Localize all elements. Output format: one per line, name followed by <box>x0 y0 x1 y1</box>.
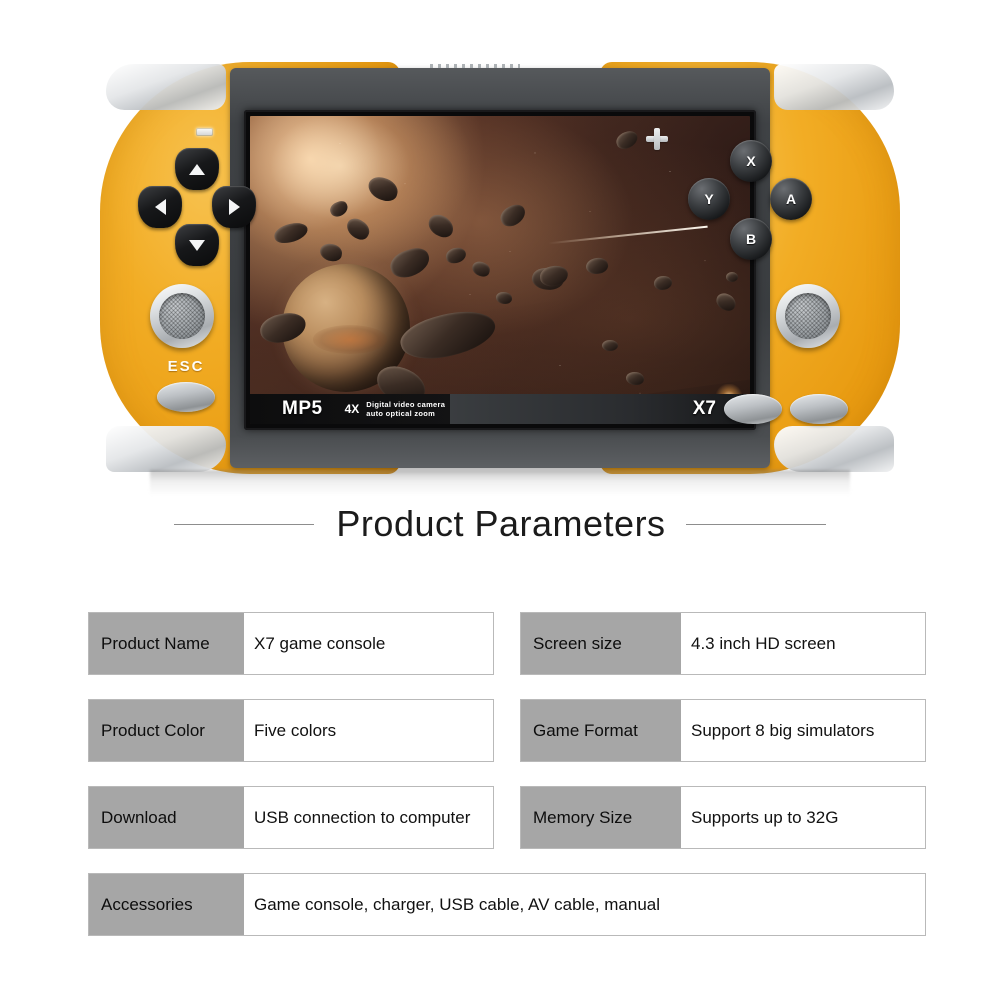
spec-value: 4.3 inch HD screen <box>681 613 925 674</box>
spec-row-memory-size: Memory Size Supports up to 32G <box>520 786 926 849</box>
esc-button[interactable] <box>157 382 215 412</box>
spec-row-screen-size: Screen size 4.3 inch HD screen <box>520 612 926 675</box>
section-header: Product Parameters <box>0 494 1000 554</box>
spec-value: Support 8 big simulators <box>681 700 925 761</box>
dpad-down-button[interactable] <box>175 224 219 266</box>
spec-value: Game console, charger, USB cable, AV cab… <box>244 874 925 935</box>
chrome-trim-top-left <box>106 64 226 110</box>
camera-feature-line-1: Digital video camera <box>366 400 445 409</box>
chrome-trim-top-right <box>774 64 894 110</box>
product-detail-page: MP5 4X Digital video camera auto optical… <box>0 0 1000 1000</box>
spec-row-download: Download USB connection to computer <box>88 786 494 849</box>
plus-icon <box>646 128 668 150</box>
screen-footer-bar: MP5 4X Digital video camera auto optical… <box>250 394 750 424</box>
button-x[interactable]: X <box>730 140 772 182</box>
face-button-cluster: X Y A B <box>688 140 812 264</box>
left-analog-stick[interactable] <box>150 284 214 348</box>
spec-key: Product Color <box>89 700 244 761</box>
asteroid <box>626 372 644 385</box>
dpad-control <box>138 148 256 266</box>
spec-key: Product Name <box>89 613 244 674</box>
zoom-factor-label: 4X <box>345 402 360 416</box>
spec-row-product-name: Product Name X7 game console <box>88 612 494 675</box>
grid-gutter <box>494 612 520 675</box>
title-rule-right <box>686 524 826 525</box>
arrow-right-icon <box>229 199 240 215</box>
chrome-trim-bottom-left <box>106 426 226 472</box>
spec-table: Product Name X7 game console Screen size… <box>88 612 926 936</box>
spec-value: X7 game console <box>244 613 493 674</box>
title-rule-left <box>174 524 314 525</box>
dpad-left-button[interactable] <box>138 186 182 228</box>
spec-key: Download <box>89 787 244 848</box>
spec-value: Five colors <box>244 700 493 761</box>
brand-mp5-label: MP5 <box>282 398 323 420</box>
spec-row-accessories: Accessories Game console, charger, USB c… <box>88 873 926 936</box>
console-center-slab: MP5 4X Digital video camera auto optical… <box>230 68 770 468</box>
page-title: Product Parameters <box>336 503 665 545</box>
arrow-down-icon <box>189 240 205 251</box>
dpad-right-button[interactable] <box>212 186 256 228</box>
arrow-left-icon <box>155 199 166 215</box>
spec-key: Memory Size <box>521 787 681 848</box>
asteroid <box>496 292 512 304</box>
power-led-icon <box>196 128 213 136</box>
chrome-trim-bottom-right <box>774 426 894 472</box>
button-a[interactable]: A <box>770 178 812 220</box>
spec-value: Supports up to 32G <box>681 787 925 848</box>
spec-key: Screen size <box>521 613 681 674</box>
product-hero-image: MP5 4X Digital video camera auto optical… <box>0 0 1000 480</box>
right-oval-button-2[interactable] <box>790 394 848 424</box>
button-b[interactable]: B <box>730 218 772 260</box>
grid-gutter <box>494 699 520 762</box>
spec-key: Game Format <box>521 700 681 761</box>
camera-feature-line-2: auto optical zoom <box>366 409 435 418</box>
button-y[interactable]: Y <box>688 178 730 220</box>
device-reflection <box>150 470 850 496</box>
spec-row-game-format: Game Format Support 8 big simulators <box>520 699 926 762</box>
asteroid <box>726 272 738 282</box>
spec-value: USB connection to computer <box>244 787 493 848</box>
zoom-feature-block: 4X Digital video camera auto optical zoo… <box>345 400 446 419</box>
dpad-up-button[interactable] <box>175 148 219 190</box>
spec-key: Accessories <box>89 874 244 935</box>
esc-label: ESC <box>156 358 216 375</box>
spec-row-product-color: Product Color Five colors <box>88 699 494 762</box>
spec-grid: Product Name X7 game console Screen size… <box>88 612 926 936</box>
screen-bezel: MP5 4X Digital video camera auto optical… <box>244 110 756 430</box>
grid-gutter <box>494 786 520 849</box>
arrow-up-icon <box>189 164 205 175</box>
game-console-device: MP5 4X Digital video camera auto optical… <box>100 62 900 474</box>
camera-feature-text: Digital video camera auto optical zoom <box>366 400 445 419</box>
right-oval-button-1[interactable] <box>724 394 782 424</box>
right-analog-stick[interactable] <box>776 284 840 348</box>
asteroid <box>602 340 618 351</box>
game-screen: MP5 4X Digital video camera auto optical… <box>250 116 750 424</box>
model-x7-label: X7 <box>693 398 716 420</box>
